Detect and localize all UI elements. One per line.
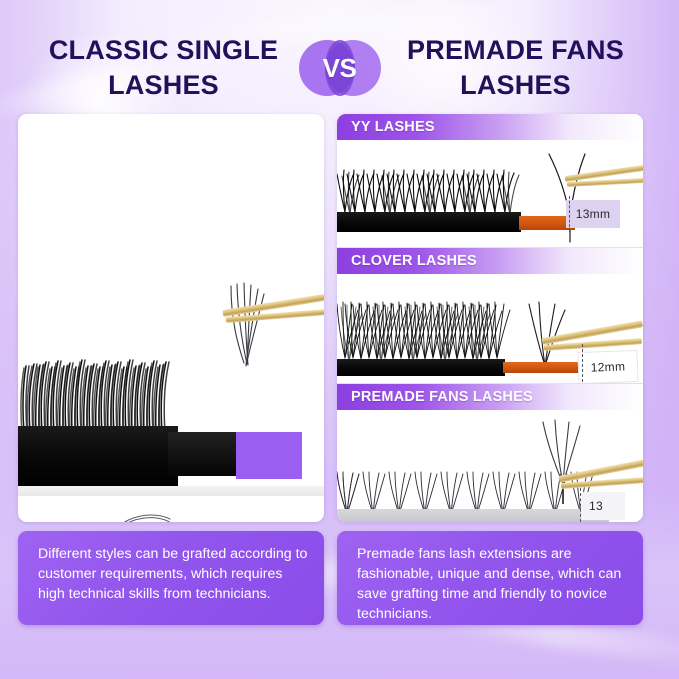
clover-measurement-text: 12mm: [590, 359, 625, 374]
section-clover-lashes: CLOVER LASHES: [337, 247, 643, 383]
section-yy-lashes: YY LASHES: [337, 114, 643, 247]
classic-single-lashes-card: [18, 114, 324, 522]
section-premade-fans-lashes: PREMADE FANS LASHES: [337, 383, 643, 522]
section-label-clover: CLOVER LASHES: [337, 253, 477, 269]
vs-badge: VS: [299, 37, 381, 99]
classic-lash-strip-base: [18, 426, 178, 488]
clover-strip-base: [337, 359, 505, 376]
yy-measurement-text: 13mm: [576, 207, 611, 221]
premade-strip-base: [337, 509, 609, 522]
classic-lash-strip-tail: [168, 432, 243, 476]
left-panel-title: CLASSIC SINGLE LASHES: [29, 33, 299, 102]
classic-lash-shelf: [18, 486, 324, 496]
vs-label: VS: [323, 53, 357, 84]
header: CLASSIC SINGLE LASHES VS PREMADE FANS LA…: [0, 28, 679, 108]
clover-measurement-label: 12mm: [577, 350, 638, 383]
left-panel-caption: Different styles can be grafted accordin…: [18, 531, 324, 625]
section-label-yy: YY LASHES: [337, 119, 435, 135]
clover-strip-orange: [503, 362, 583, 373]
premade-fans-lashes-card: YY LASHES: [337, 114, 643, 522]
yy-measurement-label: 13mm: [566, 200, 620, 228]
classic-lash-purple-tab: [236, 432, 302, 479]
premade-measurement-label: 13: [581, 492, 625, 520]
section-label-bar-premade: PREMADE FANS LASHES: [337, 384, 643, 410]
section-label-premade: PREMADE FANS LASHES: [337, 389, 533, 405]
section-label-bar-yy: YY LASHES: [337, 114, 643, 140]
yy-strip-base: [337, 212, 521, 232]
right-panel-title: PREMADE FANS LASHES: [381, 33, 651, 102]
premade-measurement-text: 13: [589, 499, 603, 513]
right-panel-caption: Premade fans lash extensions are fashion…: [337, 531, 643, 625]
section-label-bar-clover: CLOVER LASHES: [337, 248, 643, 274]
